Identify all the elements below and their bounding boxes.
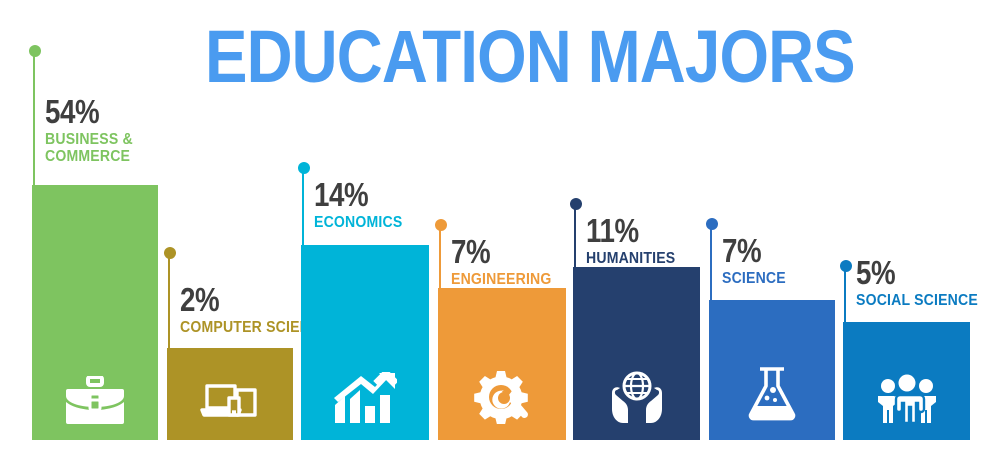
value-label-business-commerce: 54% [45,95,129,128]
callout-stem-economics [302,173,304,246]
category-label-economics: ECONOMICS [314,214,402,231]
callout-science: 7% SCIENCE [722,234,795,287]
callout-stem-computer-science [168,258,170,348]
infographic-canvas: EDUCATION MAJORS 54% BUSINESS & COMMERCE [0,0,1000,466]
category-label-engineering: ENGINEERING [451,271,552,288]
callout-business-commerce: 54% BUSINESS & COMMERCE [45,95,145,165]
bar-humanities [573,267,700,440]
category-label-business-commerce: BUSINESS & COMMERCE [45,131,133,165]
callout-stem-business-commerce [33,56,35,185]
globe-hands-icon [573,370,700,424]
bar-social-science [843,322,970,440]
gear-wrench-icon [438,370,566,424]
callout-dot-engineering [435,219,447,231]
growth-chart-icon [301,372,429,424]
callout-dot-economics [298,162,310,174]
callout-economics: 14% ECONOMICS [314,178,414,231]
category-label-line1: BUSINESS & [45,131,133,148]
page-title: EDUCATION MAJORS [205,18,721,96]
callout-dot-social-science [840,260,852,272]
callout-dot-science [706,218,718,230]
bar-business-commerce [32,185,158,440]
people-group-icon [843,374,970,424]
category-label-science: SCIENCE [722,270,786,287]
value-label-science: 7% [722,234,783,267]
value-label-social-science: 5% [856,256,972,289]
value-label-humanities: 11% [586,214,671,247]
category-label-humanities: HUMANITIES [586,250,675,267]
value-label-engineering: 7% [451,235,547,268]
bar-engineering [438,288,566,440]
callout-humanities: 11% HUMANITIES [586,214,688,267]
devices-icon [167,380,293,424]
callout-stem-science [710,229,712,300]
category-label-social-science: SOCIAL SCIENCE [856,292,978,309]
callout-stem-social-science [844,271,846,322]
bar-computer-science [167,348,293,440]
value-label-economics: 14% [314,178,398,211]
callout-stem-humanities [574,209,576,267]
callout-engineering: 7% ENGINEERING [451,235,565,288]
callout-dot-humanities [570,198,582,210]
briefcase-icon [32,376,158,424]
callout-social-science: 5% SOCIAL SCIENCE [856,256,995,309]
category-label-line2: COMMERCE [45,148,133,165]
flask-icon [709,366,835,424]
callout-dot-business-commerce [29,45,41,57]
bar-science [709,300,835,440]
callout-stem-engineering [439,230,441,288]
callout-dot-computer-science [164,247,176,259]
bar-economics [301,245,429,440]
